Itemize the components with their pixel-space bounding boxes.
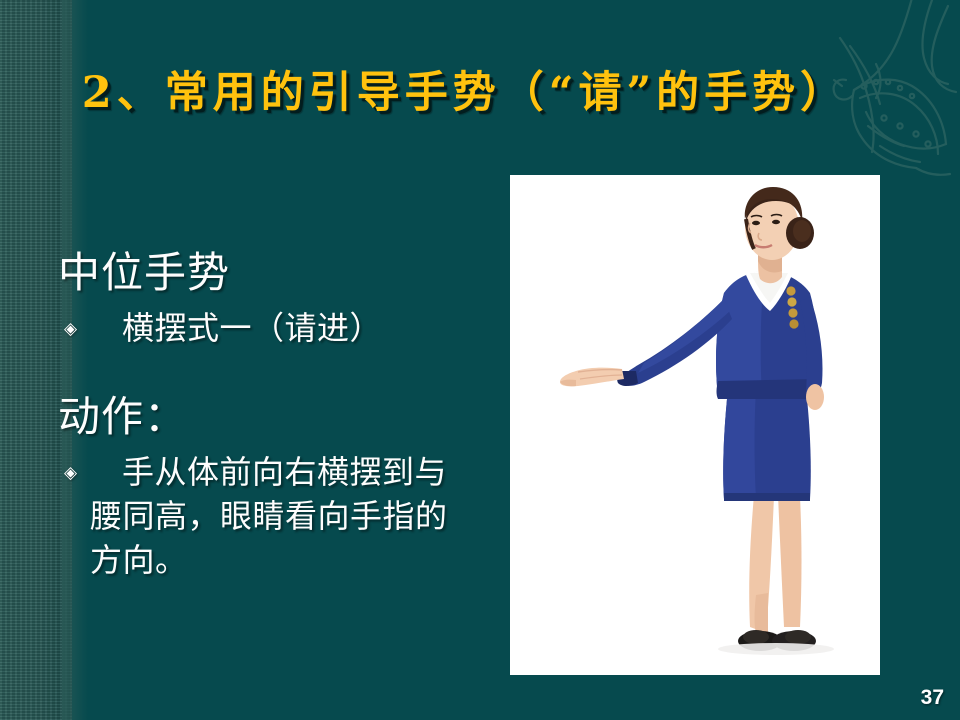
section-heading: 中位手势 <box>58 248 478 300</box>
list-item: ◈ 手从体前向右横摆到与腰同高，眼睛看向手指的方向。 <box>58 450 478 582</box>
page-title: 2、常用的引导手势（“请”的手势） <box>50 58 880 120</box>
gesture-demo-photo <box>510 175 880 675</box>
page-number: 37 <box>921 686 944 710</box>
section-position-gesture: 中位手势 ◈ 横摆式一（请进） <box>58 248 478 350</box>
section-heading: 动作： <box>58 392 478 444</box>
section-action: 动作： ◈ 手从体前向右横摆到与腰同高，眼睛看向手指的方向。 <box>58 392 478 582</box>
body-text-column: 中位手势 ◈ 横摆式一（请进） 动作： ◈ 手从体前向右横摆到与腰同高，眼睛看向… <box>58 248 478 582</box>
slide-canvas: 2、常用的引导手势（“请”的手势） 中位手势 ◈ 横摆式一（请进） 动作： ◈ … <box>0 0 960 720</box>
diamond-bullet-icon: ◈ <box>64 464 90 481</box>
list-item: ◈ 横摆式一（请进） <box>58 306 478 350</box>
photo-illustration <box>510 175 880 675</box>
diamond-bullet-icon: ◈ <box>64 320 90 337</box>
list-item-label: 横摆式一（请进） <box>90 306 478 350</box>
list-item-label: 手从体前向右横摆到与腰同高，眼睛看向手指的方向。 <box>90 450 478 582</box>
